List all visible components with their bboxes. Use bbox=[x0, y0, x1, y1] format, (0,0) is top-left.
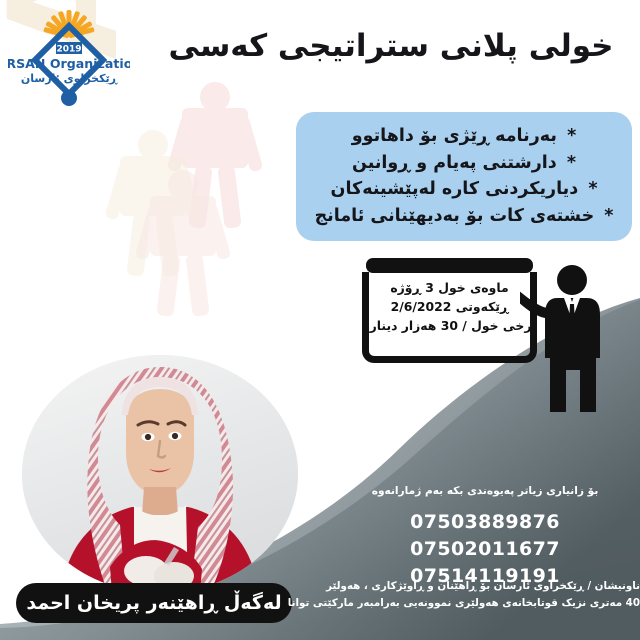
address-line: 40 مەتری نزیک قوتابخانەی هەولێری نموونەی… bbox=[330, 595, 640, 612]
course-price: نرخی خول / 30 هەزار دینارە bbox=[362, 316, 537, 335]
whiteboard-top-bar bbox=[366, 258, 533, 273]
trainer-name-label: لەگەڵ ڕاهێنەر پریخان احمد bbox=[26, 592, 281, 614]
feature-item: * دارشتنی پەیام و ڕوانین bbox=[308, 150, 620, 177]
contact-cta-text: بۆ زانیاری زیاتر پەیوەندی بکە بەم ژماران… bbox=[330, 484, 640, 500]
course-duration: ماوەی خول 3 ڕۆژە bbox=[362, 278, 537, 297]
logo-name-en: ARSAN Organization bbox=[8, 56, 130, 71]
trainer-photo bbox=[22, 355, 298, 593]
presenter-silhouette-icon bbox=[520, 262, 630, 422]
bullet-asterisk-icon: * bbox=[567, 153, 576, 173]
bullet-asterisk-icon: * bbox=[604, 206, 613, 226]
page-title: خولی پلانی ستراتیجی کەسی bbox=[156, 26, 626, 68]
arsan-logo-mark: 2019 ARSAN Organization ڕێکخراوی ئارسان bbox=[8, 6, 130, 124]
whiteboard-details: ماوەی خول 3 ڕۆژە ڕێکەوتی 2/6/2022 نرخی خ… bbox=[362, 258, 537, 363]
feature-item: * خشتەی کات بۆ بەدیهێنانی ئامانج bbox=[308, 203, 620, 230]
poster-canvas: ARSAN bbox=[0, 0, 640, 640]
trainer-portrait bbox=[22, 355, 298, 593]
phone-number[interactable]: 07503889876 bbox=[330, 509, 640, 536]
trainer-name-badge: لەگەڵ ڕاهێنەر پریخان احمد bbox=[16, 583, 292, 623]
features-card: * بەرنامە ڕێژی بۆ داهاتوو * دارشتنی پەیا… bbox=[296, 112, 632, 241]
feature-item-label: بەرنامە ڕێژی بۆ داهاتوو bbox=[352, 126, 557, 146]
whiteboard-content: ماوەی خول 3 ڕۆژە ڕێکەوتی 2/6/2022 نرخی خ… bbox=[362, 278, 537, 336]
feature-item: * دیاریکردنی کارە لەپێشینەکان bbox=[308, 176, 620, 203]
phone-number[interactable]: 07502011677 bbox=[330, 536, 640, 563]
feature-item-label: خشتەی کات بۆ بەدیهێنانی ئامانج bbox=[315, 206, 595, 226]
bullet-asterisk-icon: * bbox=[567, 126, 576, 146]
contact-block: بۆ زانیاری زیاتر پەیوەندی بکە بەم ژماران… bbox=[330, 484, 640, 590]
feature-item-label: دارشتنی پەیام و ڕوانین bbox=[352, 153, 557, 173]
feature-item-label: دیاریکردنی کارە لەپێشینەکان bbox=[331, 179, 579, 199]
feature-item: * بەرنامە ڕێژی بۆ داهاتوو bbox=[308, 123, 620, 150]
logo-name-ku: ڕێکخراوی ئارسان bbox=[21, 72, 119, 85]
course-date: ڕێکەوتی 2/6/2022 bbox=[362, 297, 537, 316]
address-line: ناونیشان / ڕێکخراوی ئارسان بۆ ڕاهێنان و … bbox=[330, 578, 640, 595]
logo-dot-icon bbox=[61, 90, 77, 106]
address-block: ناونیشان / ڕێکخراوی ئارسان بۆ ڕاهێنان و … bbox=[330, 578, 640, 611]
logo-year: 2019 bbox=[56, 45, 81, 55]
bullet-asterisk-icon: * bbox=[588, 179, 597, 199]
arsan-logo: 2019 ARSAN Organization ڕێکخراوی ئارسان bbox=[8, 6, 130, 124]
